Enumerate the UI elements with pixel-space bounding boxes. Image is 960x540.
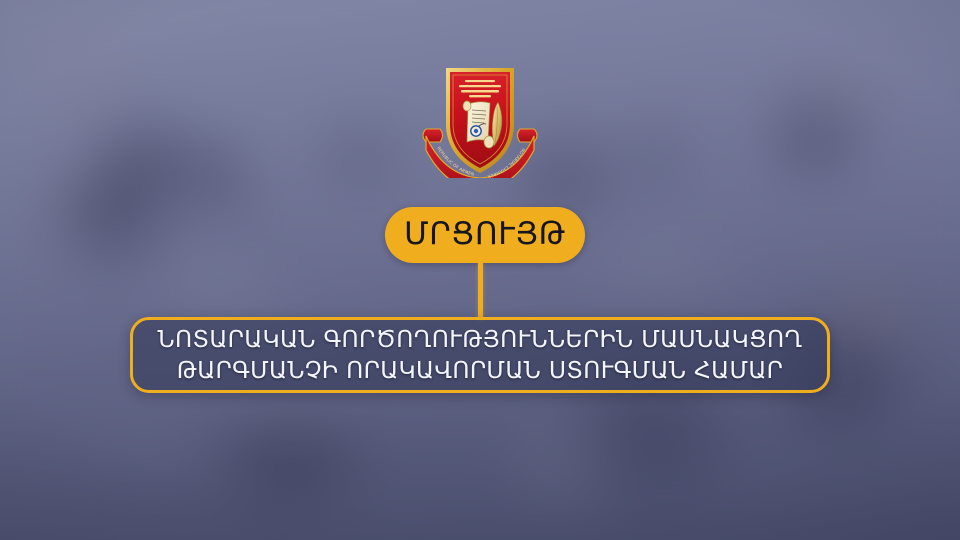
notarial-chamber-emblem: REPUBLIC OF ARMENIA NOTARIAL CHAMBER	[416, 50, 544, 178]
announcement-banner: ՆՈՏԱՐԱԿԱՆ ԳՈՐԾՈՂՈՒԹՅՈՒՆՆԵՐԻՆ ՄԱՍՆԱԿՑՈՂ Թ…	[130, 317, 830, 393]
badge-banner-connector-line	[478, 262, 483, 320]
announcement-banner-line-2: ԹԱՐԳՄԱՆՉԻ ՈՐԱԿԱՎՈՐՄԱՆ ՍՏՈՒԳՄԱՆ ՀԱՄԱՐ	[177, 355, 784, 386]
announcement-slide: REPUBLIC OF ARMENIA NOTARIAL CHAMBER ՄՐՑ…	[0, 0, 960, 540]
competition-badge-label: ՄՐՑՈՒՅԹ	[404, 219, 566, 250]
competition-badge: ՄՐՑՈՒՅԹ	[385, 207, 585, 263]
announcement-banner-line-1: ՆՈՏԱՐԱԿԱՆ ԳՈՐԾՈՂՈՒԹՅՈՒՆՆԵՐԻՆ ՄԱՍՆԱԿՑՈՂ	[158, 324, 803, 355]
